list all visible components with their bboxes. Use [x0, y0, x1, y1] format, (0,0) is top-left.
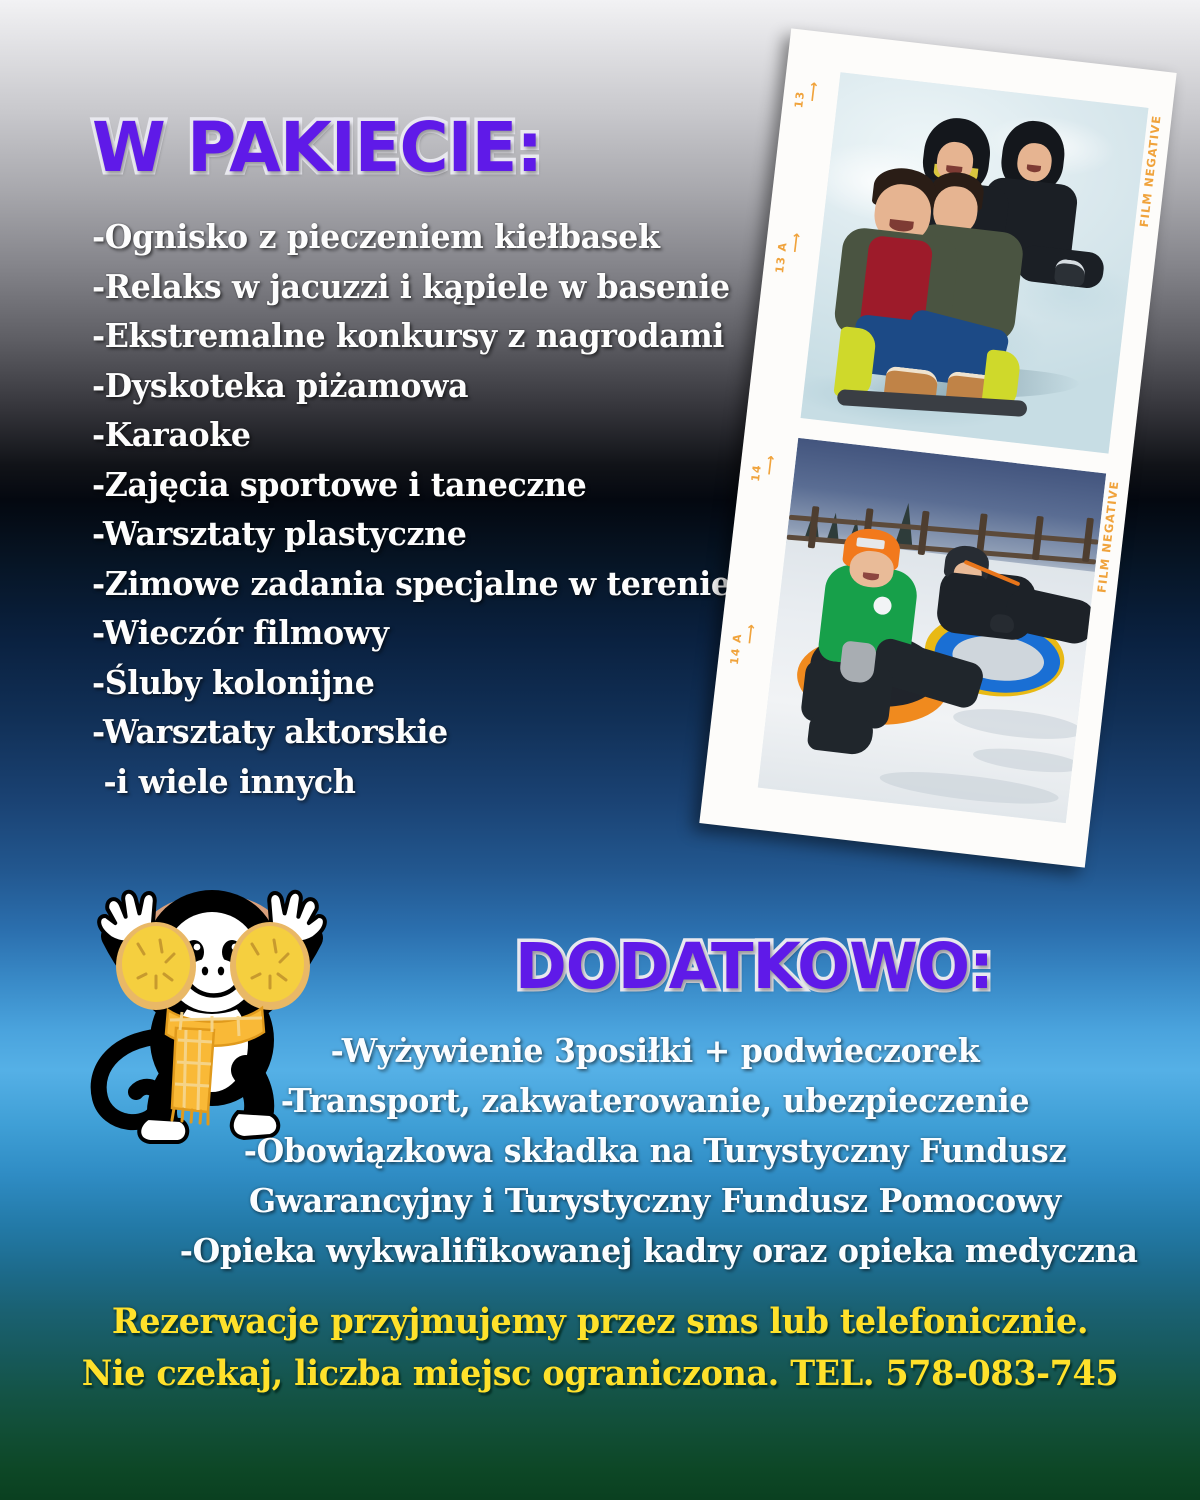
photo-sledding	[801, 72, 1149, 453]
list-item: -i wiele innych	[92, 757, 764, 807]
photo-snow-tubing	[758, 438, 1106, 823]
film-frame-number-13a: ⟶ 13 A	[773, 224, 818, 277]
list-item: -Dyskoteka piżamowa	[92, 361, 764, 411]
list-item: -Warsztaty plastyczne	[92, 509, 764, 559]
list-item: -Ognisko z pieczeniem kiełbasek	[92, 212, 764, 262]
package-heading: W PAKIECIE:	[92, 108, 542, 188]
arrow-icon: ⟶	[789, 212, 807, 253]
winter-camp-poster: W PAKIECIE: -Ognisko z pieczeniem kiełba…	[0, 0, 1200, 1500]
contact-line-2: Nie czekaj, liczba miejsc ograniczona. T…	[27, 1348, 1173, 1400]
list-item: -Opieka wykwalifikowanej kadry oraz opie…	[180, 1226, 1130, 1276]
film-frame-number-14a: ⟶ 14 A	[728, 616, 773, 669]
list-item: -Ekstremalne konkursy z nagrodami	[92, 311, 764, 361]
extra-list: -Wyżywienie 3posiłki + podwieczorek -Tra…	[160, 1026, 1150, 1276]
list-item: -Wieczór filmowy	[92, 608, 764, 658]
contact-block: Rezerwacje przyjmujemy przez sms lub tel…	[0, 1296, 1200, 1400]
arrow-icon: ⟶	[807, 61, 825, 102]
list-item: -Relaks w jacuzzi i kąpiele w basenie	[92, 262, 764, 312]
list-item: -Obowiązkowa składka na Turystyczny Fund…	[180, 1126, 1130, 1176]
list-item: -Zajęcia sportowe i taneczne	[92, 460, 764, 510]
list-item: -Śluby kolonijne	[92, 658, 764, 708]
film-frame-number-14: ⟶ 14	[749, 447, 793, 486]
contact-line-1: Rezerwacje przyjmujemy przez sms lub tel…	[27, 1296, 1173, 1348]
package-list: -Ognisko z pieczeniem kiełbasek -Relaks …	[92, 212, 792, 806]
list-item: -Transport, zakwaterowanie, ubezpieczeni…	[180, 1076, 1130, 1126]
extra-heading: DODATKOWO:	[515, 930, 993, 1003]
list-item: -Zimowe zadania specjalne w terenie	[92, 559, 764, 609]
list-item: Gwarancyjny i Turystyczny Fundusz Pomoco…	[180, 1176, 1130, 1226]
film-frame-number-13: ⟶ 13	[792, 73, 836, 112]
list-item: -Wyżywienie 3posiłki + podwieczorek	[180, 1026, 1130, 1076]
arrow-icon: ⟶	[744, 604, 762, 645]
film-strip: ⟶ 13 ⟶ 13 A ⟶ 14 ⟶ 14 A FILM NEGATIVE FI…	[699, 28, 1176, 867]
list-item: -Karaoke	[92, 410, 764, 460]
arrow-icon: ⟶	[763, 435, 781, 476]
list-item: -Warsztaty aktorskie	[92, 707, 764, 757]
